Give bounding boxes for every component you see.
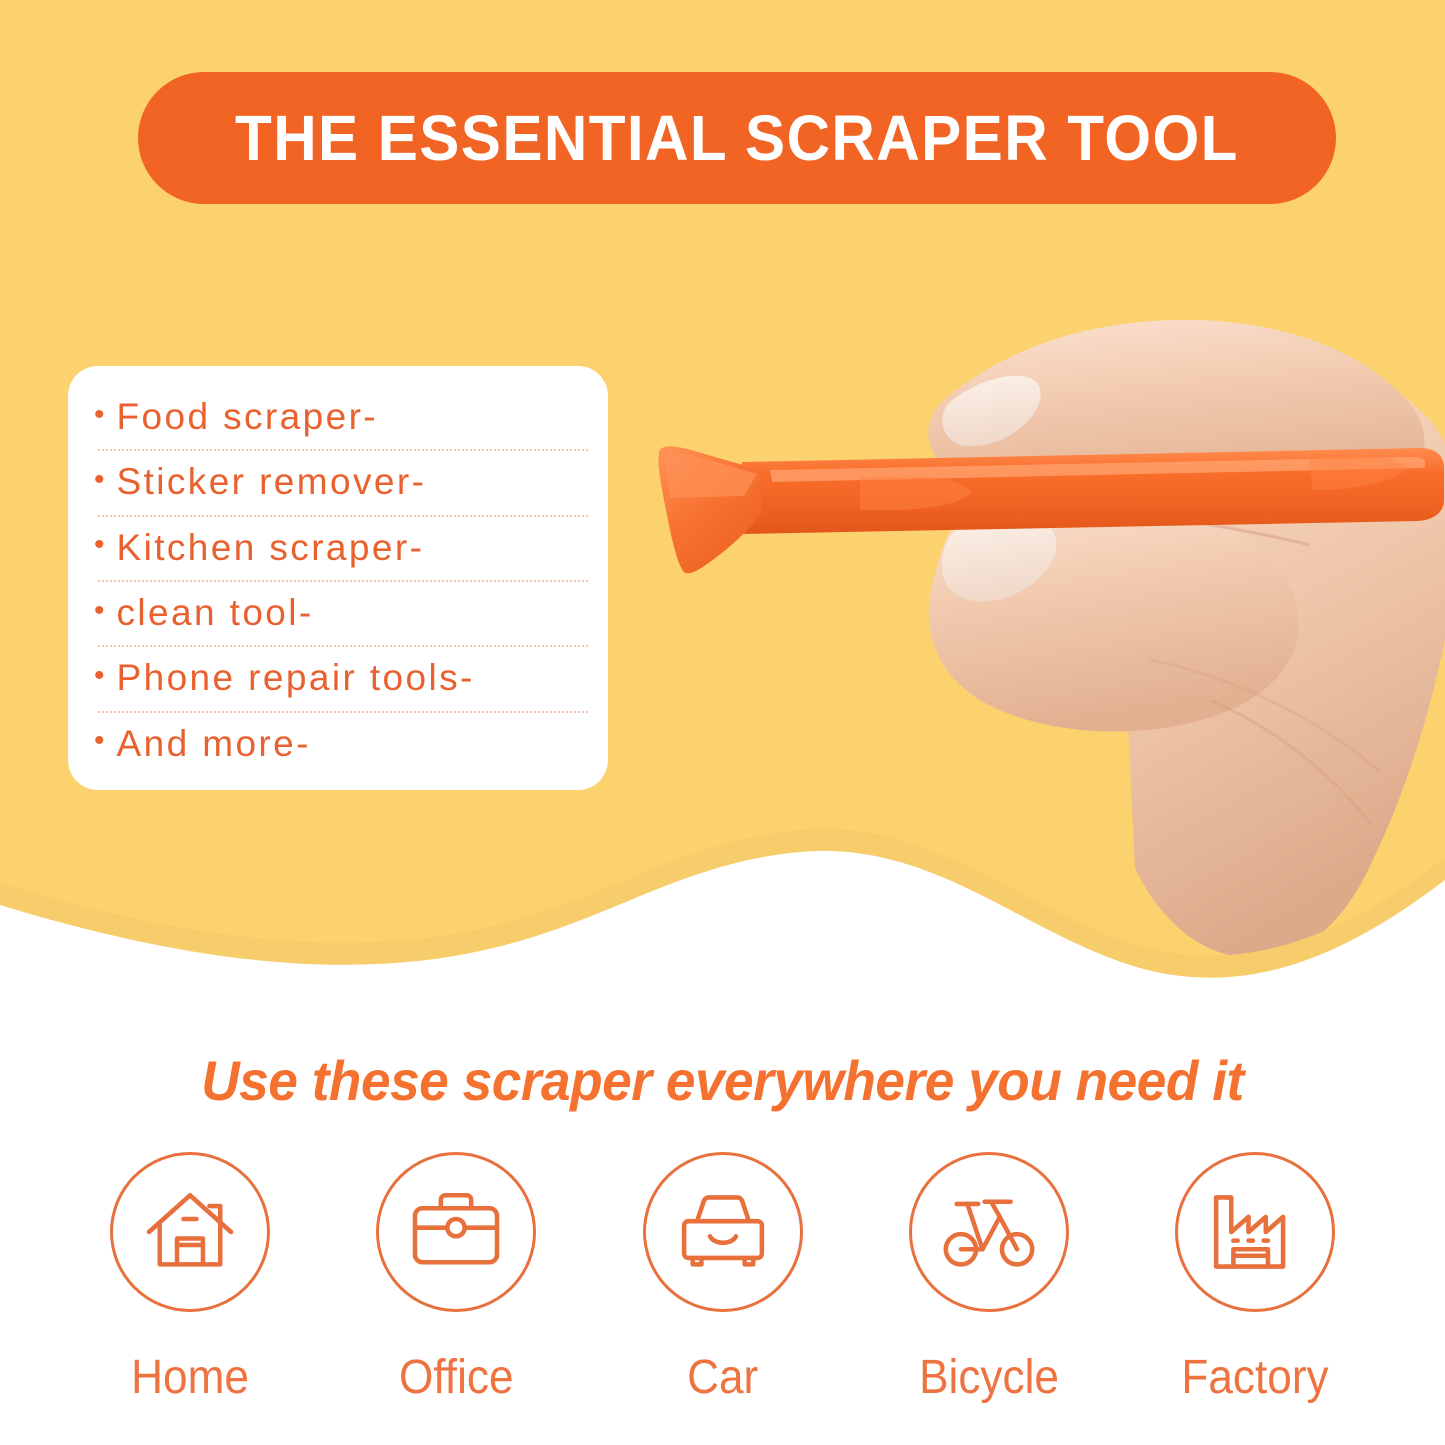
feature-label: Sticker remover- <box>117 463 427 500</box>
page-title: THE ESSENTIAL SCRAPER TOOL <box>235 106 1239 170</box>
usage-item-car: Car <box>605 1152 841 1402</box>
bullet-icon: • <box>94 596 105 626</box>
usage-icon-row: Home Office <box>72 1152 1373 1402</box>
usage-label: Office <box>399 1354 514 1402</box>
bullet-icon: • <box>94 661 105 691</box>
house-icon <box>136 1178 244 1286</box>
feature-label: Kitchen scraper- <box>117 529 425 566</box>
usage-label: Factory <box>1181 1354 1328 1402</box>
bullet-icon: • <box>94 726 105 756</box>
factory-icon <box>1201 1178 1309 1286</box>
header-banner: THE ESSENTIAL SCRAPER TOOL <box>138 72 1336 204</box>
list-item: • Kitchen scraper- <box>94 515 582 580</box>
list-item: • Food scraper- <box>94 384 582 449</box>
usage-heading: Use these scraper everywhere you need it <box>36 1048 1409 1113</box>
list-item: • clean tool- <box>94 580 582 645</box>
list-item: • And more- <box>94 711 582 776</box>
list-item: • Phone repair tools- <box>94 645 582 710</box>
icon-circle <box>376 1152 536 1312</box>
product-infographic: THE ESSENTIAL SCRAPER TOOL • Food scrape… <box>0 0 1445 1445</box>
usage-label: Home <box>131 1354 249 1402</box>
bullet-icon: • <box>94 465 105 495</box>
feature-label: Food scraper- <box>117 398 379 435</box>
usage-item-office: Office <box>338 1152 574 1402</box>
icon-circle <box>909 1152 1069 1312</box>
icon-circle <box>110 1152 270 1312</box>
usage-label: Car <box>687 1354 758 1402</box>
feature-label: And more- <box>117 725 311 762</box>
briefcase-icon <box>402 1178 510 1286</box>
list-item: • Sticker remover- <box>94 449 582 514</box>
usage-item-home: Home <box>72 1152 308 1402</box>
feature-label: clean tool- <box>117 594 314 631</box>
feature-list-card: • Food scraper- • Sticker remover- • Kit… <box>68 366 608 790</box>
bullet-icon: • <box>94 530 105 560</box>
icon-circle <box>1175 1152 1335 1312</box>
usage-item-bicycle: Bicycle <box>871 1152 1107 1402</box>
car-icon <box>669 1178 777 1286</box>
icon-circle <box>643 1152 803 1312</box>
usage-item-factory: Factory <box>1137 1152 1373 1402</box>
bicycle-icon <box>935 1178 1043 1286</box>
bullet-icon: • <box>94 400 105 430</box>
feature-label: Phone repair tools- <box>117 659 475 696</box>
usage-label: Bicycle <box>919 1354 1059 1402</box>
